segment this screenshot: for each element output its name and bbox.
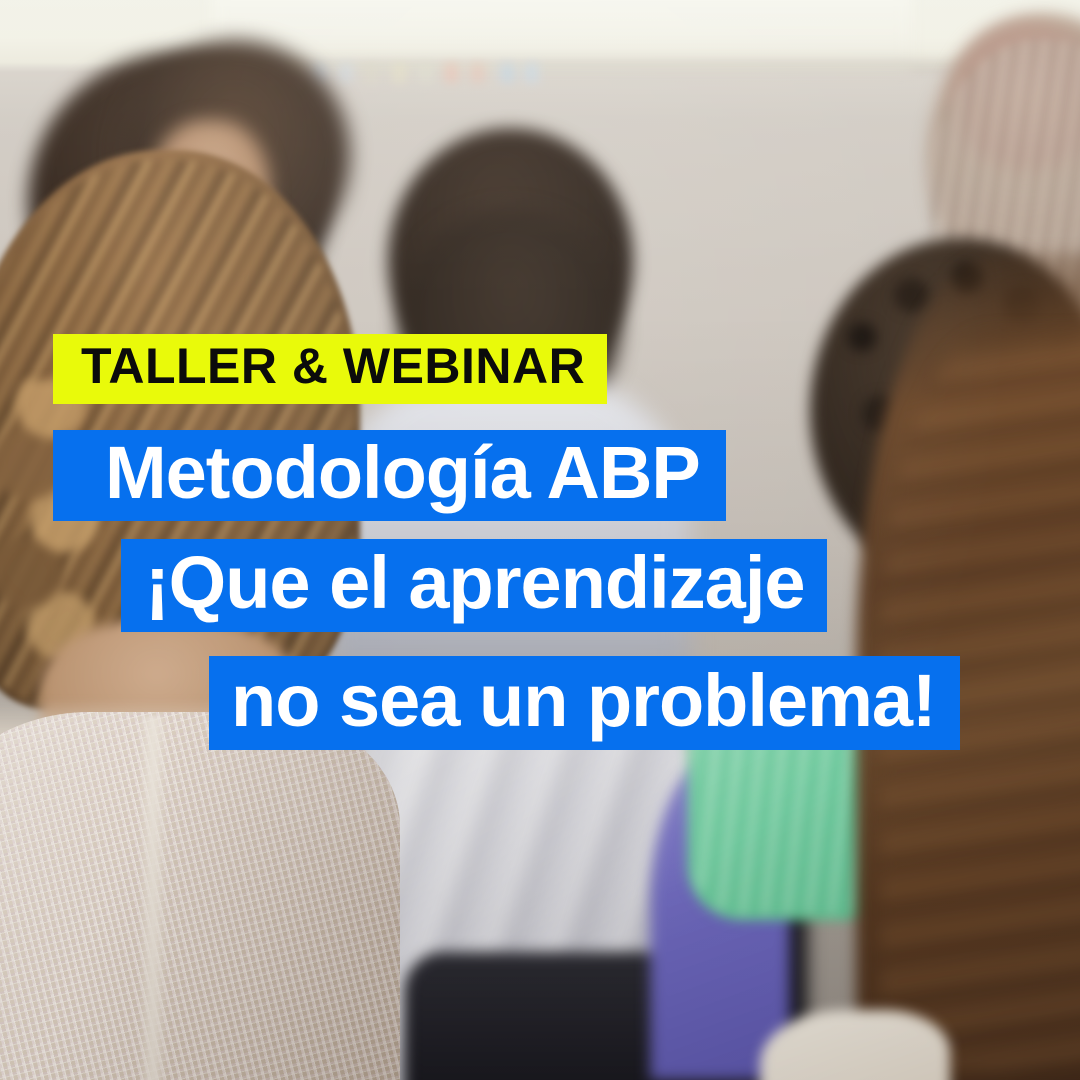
- headline-line-3: no sea un problema!: [209, 656, 960, 750]
- poster-canvas: TALLER & WEBINAR Metodología ABP ¡Que el…: [0, 0, 1080, 1080]
- headline-line-2: ¡Que el aprendizaje: [121, 539, 827, 632]
- headline-line-2-text: ¡Que el aprendizaje: [145, 540, 805, 625]
- kicker-label: TALLER & WEBINAR: [81, 337, 585, 395]
- sweater-shading: [0, 712, 400, 1080]
- headline-line-1-text: Metodología ABP: [105, 430, 700, 515]
- projector-screen: [212, 0, 912, 68]
- kicker-banner: TALLER & WEBINAR: [53, 334, 607, 404]
- headline-line-1: Metodología ABP: [53, 430, 726, 521]
- headline-line-3-text: no sea un problema!: [231, 658, 936, 743]
